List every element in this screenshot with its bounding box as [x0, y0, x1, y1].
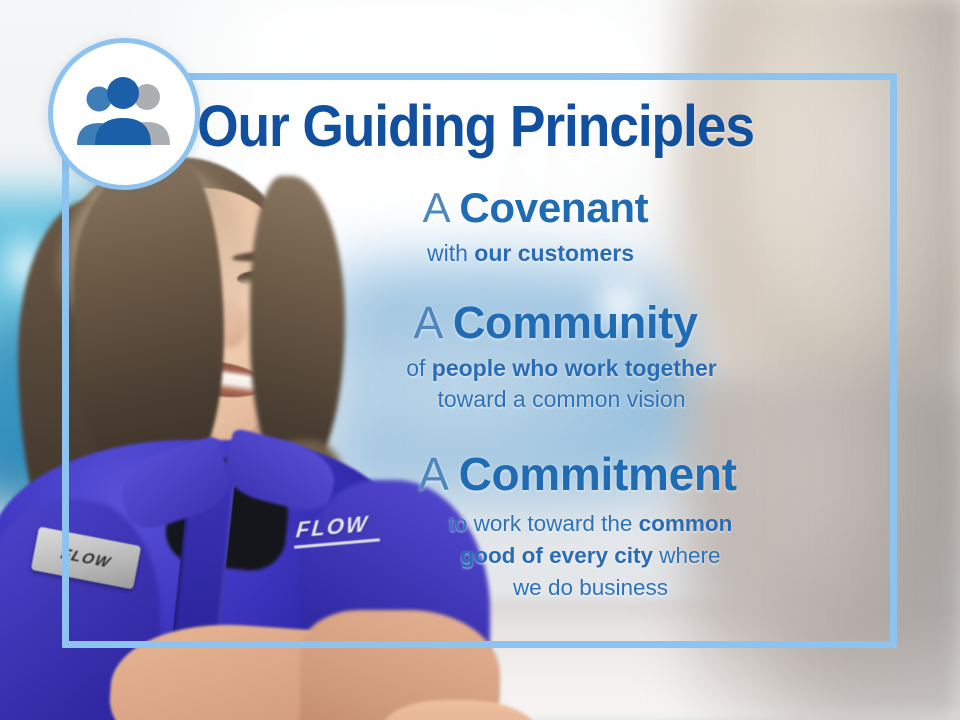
principle-commitment-subtext: to work toward the common good of every … [212, 508, 883, 604]
article-a-1: A [423, 184, 448, 231]
commitment-sub-line1-bold: common [639, 511, 733, 536]
principle-commitment-headline: A Commitment [212, 450, 883, 500]
principle-covenant: A Covenant with our customers [212, 185, 883, 271]
principle-word-covenant: Covenant [459, 184, 648, 231]
principle-community-subtext: of people who work together toward a com… [212, 353, 883, 414]
covenant-sub-plain: with [427, 240, 474, 266]
community-sub-line1-pre: of [406, 355, 432, 381]
people-icon-badge [48, 38, 200, 190]
covenant-sub-bold: our customers [474, 240, 634, 266]
text-content: Our Guiding Principles A Covenant with o… [62, 73, 897, 648]
group-of-people-icon [72, 77, 176, 151]
principles-list: A Covenant with our customers A Communit… [212, 185, 883, 610]
principle-community: A Community of people who work together … [212, 299, 883, 414]
article-a-2: A [413, 297, 440, 348]
principle-community-headline: A Community [212, 299, 883, 348]
guiding-principles-graphic: FLOW FLOW Our Guiding Principles A Coven… [0, 0, 960, 720]
principle-word-community: Community [453, 297, 698, 348]
principle-commitment: A Commitment to work toward the common g… [212, 450, 883, 603]
commitment-sub-line1-pre: to work toward the [449, 511, 639, 536]
community-sub-line2: toward a common vision [438, 386, 686, 412]
page-title: Our Guiding Principles [95, 97, 856, 156]
principle-covenant-subtext: with our customers [212, 238, 883, 268]
commitment-sub-line2-post: where [653, 543, 721, 568]
principle-covenant-headline: A Covenant [212, 185, 883, 230]
article-a-3: A [418, 448, 446, 500]
community-sub-line1-bold: people who work together [432, 355, 717, 381]
principle-word-commitment: Commitment [459, 448, 737, 500]
commitment-sub-line3: we do business [513, 575, 668, 600]
commitment-sub-line2-bold: good of every city [460, 543, 653, 568]
